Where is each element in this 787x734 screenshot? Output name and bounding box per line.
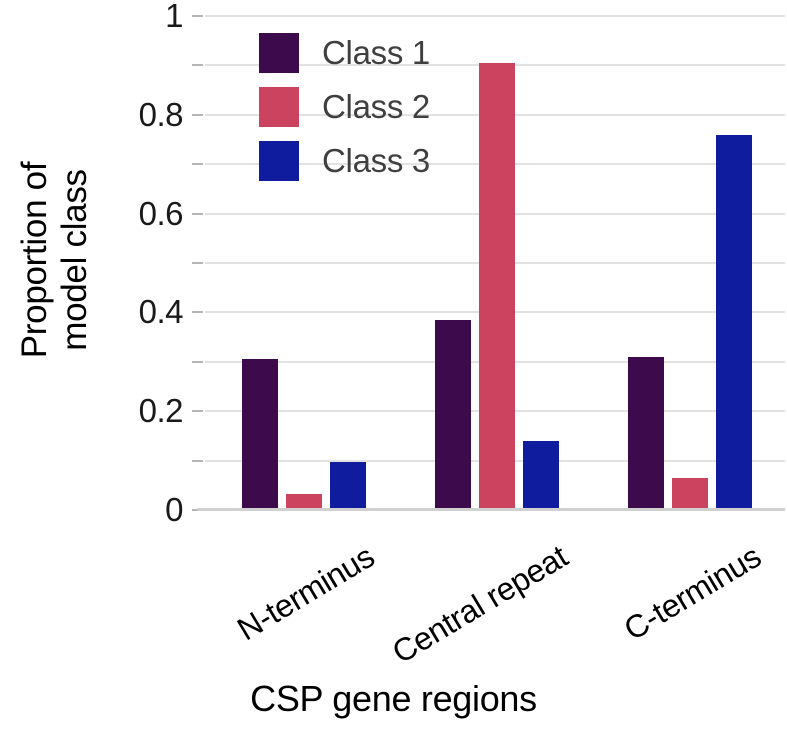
bar	[672, 478, 708, 510]
x-axis-tick-label: N-terminus	[231, 538, 381, 648]
bar	[242, 359, 278, 510]
y-axis-tick-mark	[192, 213, 203, 215]
y-axis-title-line-1: Proportion of	[15, 162, 55, 359]
x-axis-baseline	[197, 508, 785, 511]
y-axis-tick-mark	[192, 460, 203, 462]
y-axis-tick-mark	[192, 262, 203, 264]
y-axis-tick-label: 1	[165, 0, 183, 32]
y-axis-tick-label: 0	[165, 493, 183, 526]
bar-chart-figure: Proportion of model class 00.20.40.60.81…	[0, 0, 787, 734]
bar	[628, 357, 664, 510]
legend-swatch-icon	[259, 87, 299, 127]
x-axis-tick-label: Central repeat	[386, 538, 574, 671]
y-axis-tick-mark	[192, 64, 203, 66]
bar	[716, 135, 752, 510]
legend-item: Class 3	[259, 134, 499, 188]
x-axis-tick-label: C-terminus	[618, 538, 768, 648]
gridline	[205, 15, 785, 17]
legend-label: Class 3	[322, 142, 430, 180]
x-axis-title: CSP gene regions	[0, 678, 787, 720]
y-axis-tick-mark	[192, 163, 203, 165]
legend-label: Class 1	[322, 34, 430, 72]
bar	[330, 462, 366, 510]
bar	[523, 441, 559, 510]
y-axis-tick-mark	[192, 15, 203, 17]
legend: Class 1Class 2Class 3	[259, 26, 499, 188]
y-axis-tick-label: 0.4	[139, 295, 183, 328]
y-axis-tick-label: 0.8	[139, 98, 183, 131]
legend-label: Class 2	[322, 88, 430, 126]
y-axis-tick-mark	[192, 361, 203, 363]
y-axis-tick-mark	[192, 410, 203, 412]
y-axis-tick-mark	[192, 311, 203, 313]
y-axis-tick-label: 0.6	[139, 197, 183, 230]
legend-item: Class 1	[259, 26, 499, 80]
legend-swatch-icon	[259, 33, 299, 73]
bar	[435, 320, 471, 510]
legend-item: Class 2	[259, 80, 499, 134]
y-axis-tick-label: 0.2	[139, 394, 183, 427]
legend-swatch-icon	[259, 141, 299, 181]
y-axis-title: Proportion of model class	[0, 0, 110, 520]
y-axis-tick-mark	[192, 114, 203, 116]
y-axis-title-line-2: model class	[55, 162, 95, 359]
